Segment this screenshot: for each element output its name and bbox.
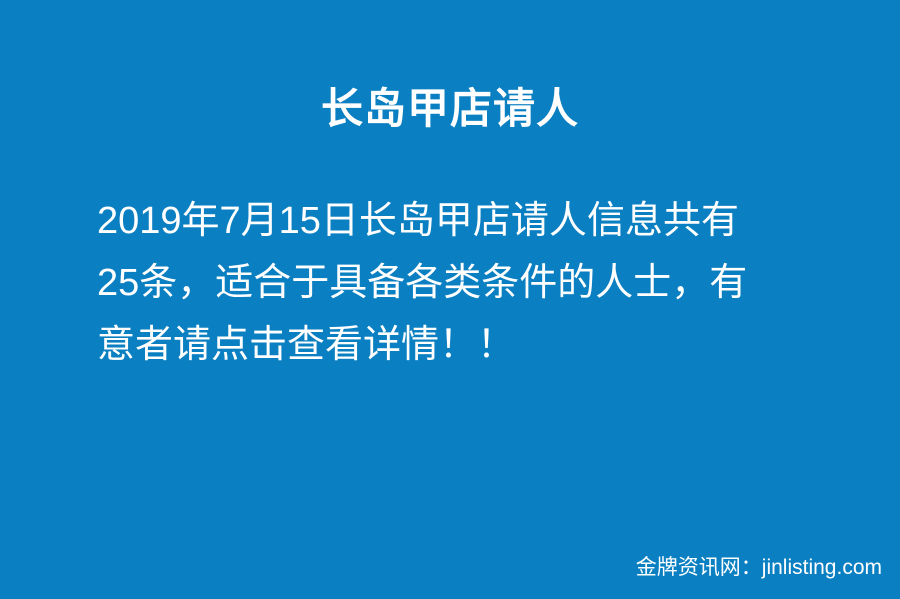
body-line: 意者请点击查看详情！！	[97, 314, 807, 376]
body-line: 25条，适合于具备各类条件的人士，有	[97, 252, 807, 314]
body-line: 2019年7月15日长岛甲店请人信息共有	[97, 190, 807, 252]
poster-canvas: 长岛甲店请人 2019年7月15日长岛甲店请人信息共有 25条，适合于具备各类条…	[0, 0, 900, 599]
site-watermark: 金牌资讯网：jinlisting.com	[636, 555, 882, 581]
page-title: 长岛甲店请人	[0, 82, 900, 136]
poster-body-text: 2019年7月15日长岛甲店请人信息共有 25条，适合于具备各类条件的人士，有 …	[97, 190, 807, 376]
